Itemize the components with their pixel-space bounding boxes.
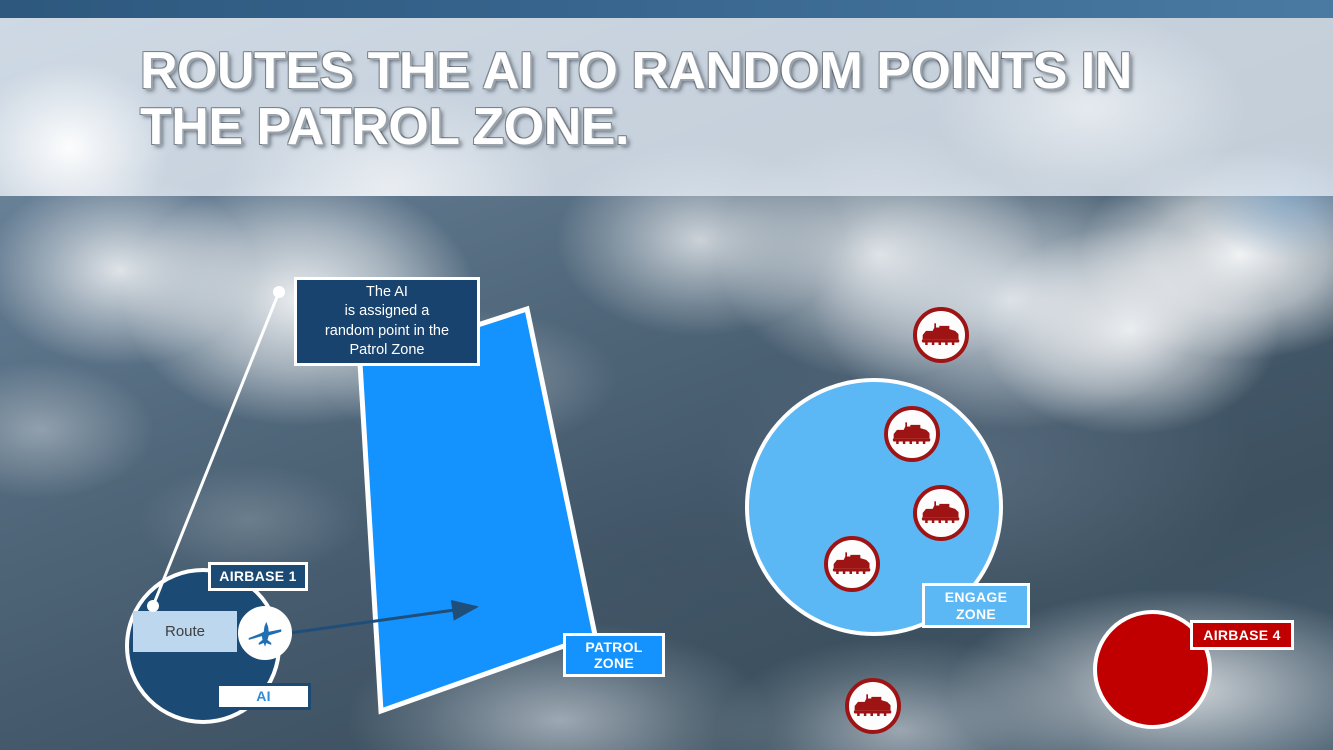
fighter-jet-icon[interactable] [238,606,292,660]
label-airbase-4: AIRBASE 4 [1190,620,1294,650]
tank-icon[interactable] [913,307,969,363]
tank-icon[interactable] [884,406,940,462]
label-airbase-1: AIRBASE 1 [208,562,308,591]
callout-line-3: random point in the [325,322,449,341]
callout-box: The AI is assigned a random point in the… [294,277,480,366]
label-patrol-zone: PATROL ZONE [563,633,665,677]
patrol-zone-line-2: ZONE [585,655,642,671]
callout-line-2: is assigned a [325,302,449,321]
engage-zone-line-1: ENGAGE [945,589,1007,605]
presentation-slide: ROUTES THE AI TO RANDOM POINTS IN THE PA… [0,0,1333,750]
tank-icon[interactable] [845,678,901,734]
tank-icon[interactable] [913,485,969,541]
engage-zone-line-2: ZONE [945,606,1007,622]
arrow-icon [0,0,1333,750]
patrol-zone-line-1: PATROL [585,639,642,655]
callout-line-1: The AI [325,283,449,302]
callout-line-4: Patrol Zone [325,341,449,360]
tank-icon[interactable] [824,536,880,592]
label-engage-zone: ENGAGE ZONE [922,583,1030,628]
label-ai: AI [216,683,311,710]
